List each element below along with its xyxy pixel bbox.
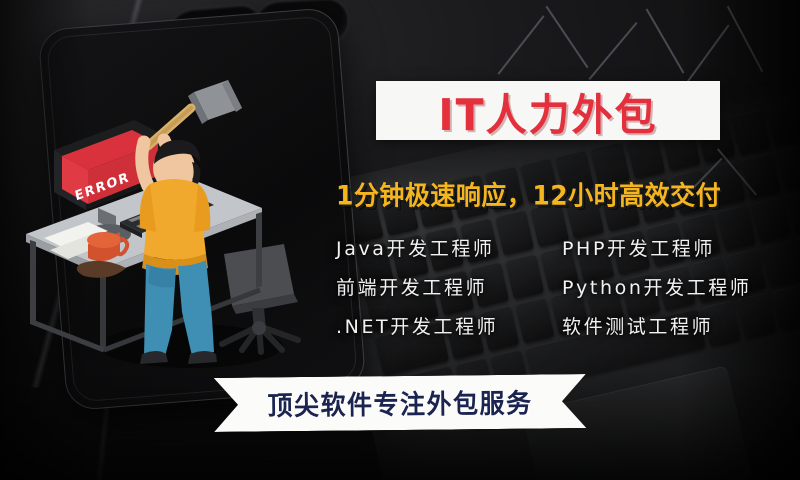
role-item: Python开发工程师 (562, 273, 788, 300)
role-row: 前端开发工程师 Python开发工程师 (336, 267, 788, 306)
role-item: Java开发工程师 (336, 234, 562, 261)
promo-banner: ERROR (0, 0, 800, 480)
subtitle-tagline: 1分钟极速响应，12小时高效交付 (336, 175, 780, 213)
role-row: .NET开发工程师 软件测试工程师 (336, 306, 788, 345)
role-row: Java开发工程师 PHP开发工程师 (336, 228, 788, 267)
illustration-developer-smashing-computer: ERROR (16, 58, 336, 388)
role-item: PHP开发工程师 (562, 234, 788, 261)
role-item: .NET开发工程师 (336, 312, 562, 339)
role-item: 软件测试工程师 (562, 312, 788, 339)
role-list: Java开发工程师 PHP开发工程师 前端开发工程师 Python开发工程师 .… (336, 228, 788, 345)
role-item: 前端开发工程师 (336, 273, 562, 300)
ribbon-slogan: 顶尖软件专注外包服务 (267, 383, 532, 424)
page-title: IT人力外包 (438, 79, 657, 143)
title-plate: IT人力外包 (376, 81, 720, 140)
bottom-ribbon: 顶尖软件专注外包服务 (214, 374, 587, 432)
